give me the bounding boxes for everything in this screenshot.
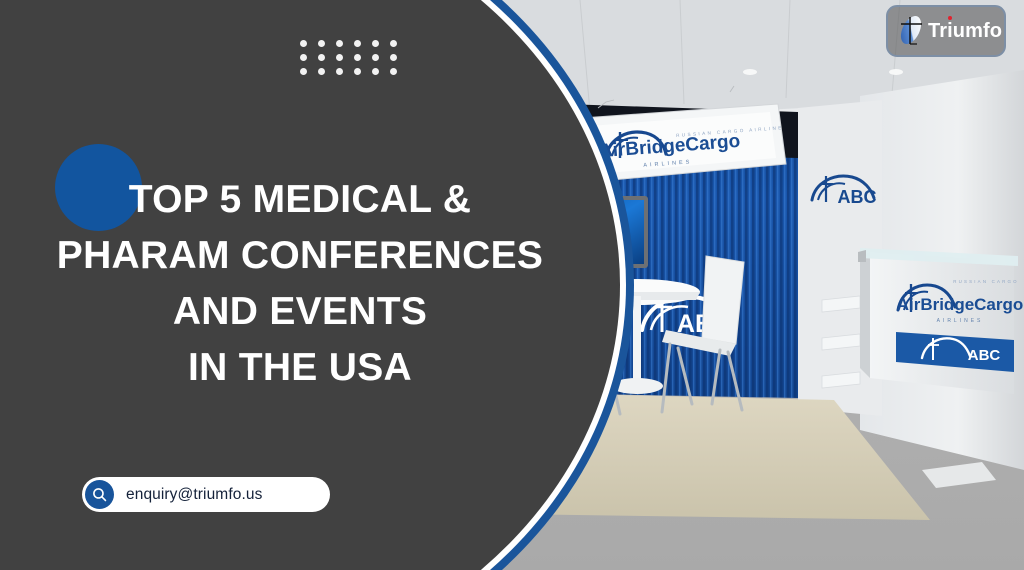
svg-text:ABC: ABC <box>838 187 877 207</box>
triumfo-ellipse-axis-icon <box>895 11 927 51</box>
svg-text:AirBridgeCargo: AirBridgeCargo <box>897 295 1024 314</box>
svg-text:ABC: ABC <box>968 347 1001 364</box>
svg-text:RUSSIAN CARGO: RUSSIAN CARGO <box>953 279 1018 284</box>
svg-text:AIRLINES: AIRLINES <box>937 318 984 324</box>
brand-name: Triumfo <box>928 20 1002 43</box>
search-icon <box>85 480 114 509</box>
contact-email-text: enquiry@triumfo.us <box>126 486 262 504</box>
headline-line-3: AND EVENTS <box>0 284 600 340</box>
headline-line-1: TOP 5 MEDICAL & <box>0 172 600 228</box>
page-title: TOP 5 MEDICAL & PHARAM CONFERENCES AND E… <box>0 172 600 396</box>
contact-email-badge[interactable]: enquiry@triumfo.us <box>82 477 330 512</box>
headline-line-2: PHARAM CONFERENCES <box>0 228 600 284</box>
brand-logo[interactable]: Triumfo <box>886 5 1006 57</box>
left-content: TOP 5 MEDICAL & PHARAM CONFERENCES AND E… <box>0 0 600 570</box>
headline-line-4: IN THE USA <box>0 340 600 396</box>
dot-grid-icon <box>300 40 408 82</box>
blog-banner: AirBridgeCargo AIRLINES RUSSIAN CARGO AI… <box>0 0 1024 570</box>
